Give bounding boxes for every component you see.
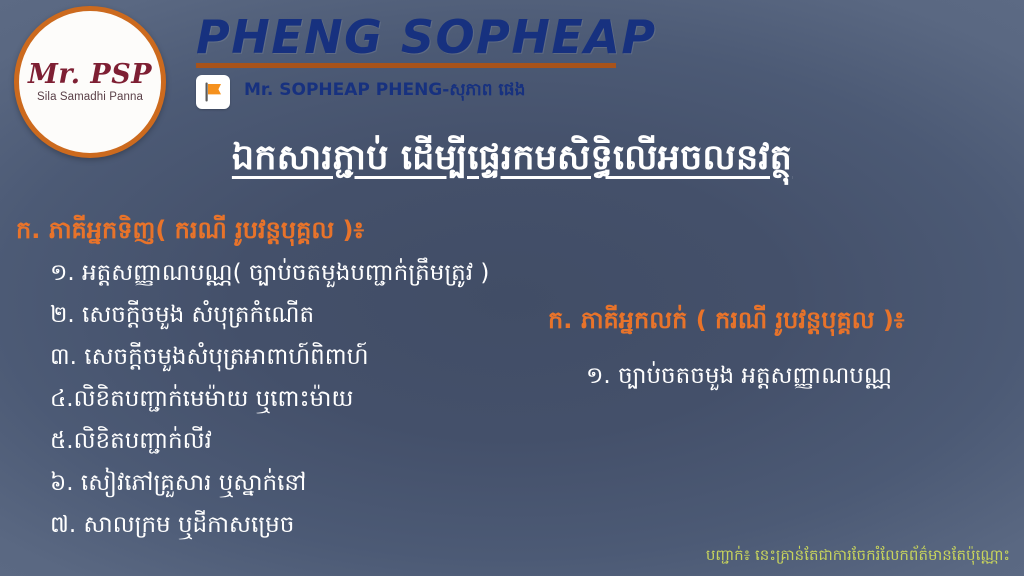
flag-icon bbox=[196, 75, 230, 109]
buyer-document-list: ១. អត្តសញ្ញាណបណ្ណ( ច្បាប់ចតមួងបញ្ជាក់ត្រ… bbox=[16, 259, 536, 544]
buyer-party-section: ក. ភាគីអ្នកទិញ( ករណី រូបវន្តបុគ្គល )៖ ១.… bbox=[16, 215, 536, 544]
brand-subtitle: Mr. SOPHEAP PHENG-សុភាព ផេង bbox=[244, 79, 525, 104]
logo-main-text: Mr. PSP bbox=[28, 61, 152, 88]
list-item: ៥.លិខិតបញ្ជាក់លីវ bbox=[50, 427, 536, 460]
brand-subtitle-row: Mr. SOPHEAP PHENG-សុភាព ផេង bbox=[196, 75, 896, 109]
list-item: ២. សេចក្តីចមួង សំបុត្រកំណើត bbox=[50, 301, 536, 334]
seller-party-section: ក. ភាគីអ្នកលក់ ( ករណី រូបវន្តបុគ្គល )៖ ១… bbox=[548, 305, 1018, 395]
footer-disclaimer: បញ្ជាក់៖ នេះគ្រាន់តែជាការចែករំលែកព័ត៌មាន… bbox=[706, 546, 1010, 568]
list-item: ៤.លិខិតបញ្ជាក់មេម៉ាយ ឬពោះម៉ាយ bbox=[50, 385, 536, 418]
buyer-party-heading: ក. ភាគីអ្នកទិញ( ករណី រូបវន្តបុគ្គល )៖ bbox=[16, 215, 536, 250]
seller-party-heading: ក. ភាគីអ្នកលក់ ( ករណី រូបវន្តបុគ្គល )៖ bbox=[548, 305, 1018, 340]
list-item: ៦. សៀវភៅគ្រួសារ ឬស្នាក់នៅ bbox=[50, 469, 536, 502]
page-title: ឯកសារភ្ជាប់ ដើម្បីផ្ទេរកមសិទ្ធិលើអចលនវត្… bbox=[0, 136, 1024, 187]
list-item: ១. អត្តសញ្ញាណបណ្ណ( ច្បាប់ចតមួងបញ្ជាក់ត្រ… bbox=[50, 259, 536, 292]
brand-block: PHENG SOPHEAP Mr. SOPHEAP PHENG-សុភាព ផេ… bbox=[196, 14, 896, 109]
slide-canvas: Mr. PSP Sila Samadhi Panna PHENG SOPHEAP… bbox=[0, 0, 1024, 576]
list-item: ១. ច្បាប់ចតចមួង អត្តសញ្ញាណបណ្ណ bbox=[586, 362, 1018, 395]
seller-document-list: ១. ច្បាប់ចតចមួង អត្តសញ្ញាណបណ្ណ bbox=[548, 362, 1018, 395]
list-item: ៣. សេចក្តីចមួងសំបុត្រអាពាហ៍ពិពាហ៍ bbox=[50, 343, 536, 376]
list-item: ៧. សាលក្រម ឬដីកាសម្រេច bbox=[50, 511, 536, 544]
logo-sub-text: Sila Samadhi Panna bbox=[37, 91, 143, 103]
slide-header: Mr. PSP Sila Samadhi Panna PHENG SOPHEAP… bbox=[0, 0, 1024, 130]
brand-title: PHENG SOPHEAP bbox=[196, 14, 896, 61]
